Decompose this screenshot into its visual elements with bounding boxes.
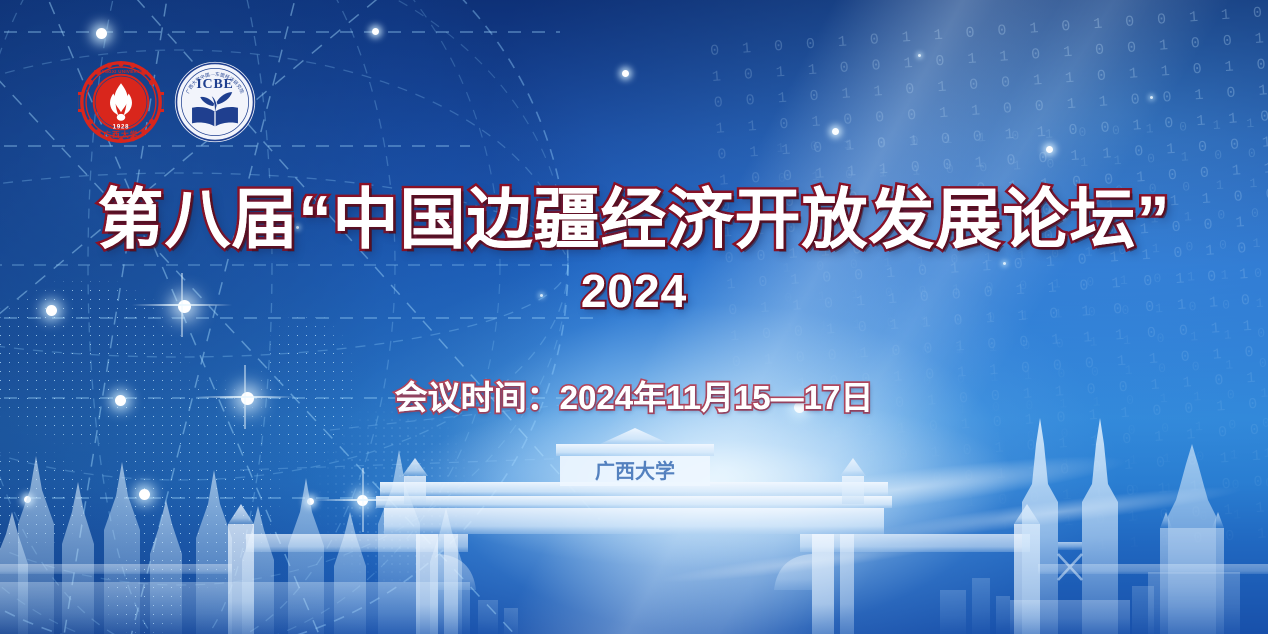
- svg-text:广西大学: 广西大学: [103, 129, 139, 139]
- network-node: [1046, 146, 1053, 153]
- network-node: [357, 495, 368, 506]
- network-node: [372, 28, 379, 35]
- banner-year: 2024: [0, 268, 1268, 314]
- guangxi-university-emblem: 1928 GUANGXI UNIVERSITY 广西大学: [78, 56, 164, 148]
- network-node: [307, 498, 314, 505]
- conference-date: 会议时间：2024年11月15—17日: [0, 381, 1268, 414]
- svg-text:GUANGXI UNIVERSITY: GUANGXI UNIVERSITY: [94, 69, 148, 74]
- network-node: [24, 496, 31, 503]
- banner-title: 第八届“中国边疆经济开放发展论坛”: [0, 186, 1268, 252]
- conference-banner: 0 1 0 0 1 0 1 1 0 0 1 0 1 0 0 1 1 0 1 0 …: [0, 0, 1268, 634]
- network-node: [139, 489, 150, 500]
- twinkle-dot: [1003, 262, 1006, 265]
- icbe-institute-emblem: ICBE 广西大学中国—东盟经济研究院: [174, 61, 256, 143]
- twinkle-dot: [1150, 96, 1153, 99]
- network-node: [96, 28, 107, 39]
- twinkle-dot: [918, 54, 921, 57]
- temple-spires: [0, 450, 462, 634]
- dotted-continents-secondary: [300, 400, 540, 634]
- logo-group: 1928 GUANGXI UNIVERSITY 广西大学 ICBE: [78, 56, 256, 148]
- network-node: [832, 128, 839, 135]
- temple-base-platform: [0, 582, 470, 634]
- network-node: [622, 70, 629, 77]
